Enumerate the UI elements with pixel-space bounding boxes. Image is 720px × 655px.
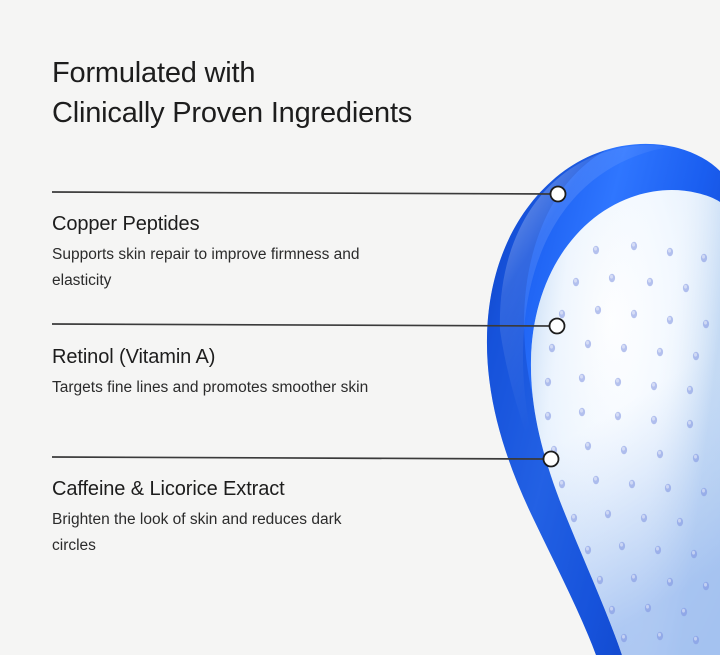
callout-marker-dot <box>550 319 565 334</box>
callout-marker-dot <box>551 187 566 202</box>
leader-line <box>52 192 552 194</box>
leader-line <box>52 457 545 459</box>
callout-copper-peptides <box>52 187 566 202</box>
callout-marker-dot <box>544 452 559 467</box>
callout-retinol <box>52 319 565 334</box>
callout-layer <box>0 0 720 655</box>
callout-caffeine-licorice <box>52 452 559 467</box>
leader-line <box>52 324 551 326</box>
ingredient-infographic: Formulated with Clinically Proven Ingred… <box>0 0 720 655</box>
